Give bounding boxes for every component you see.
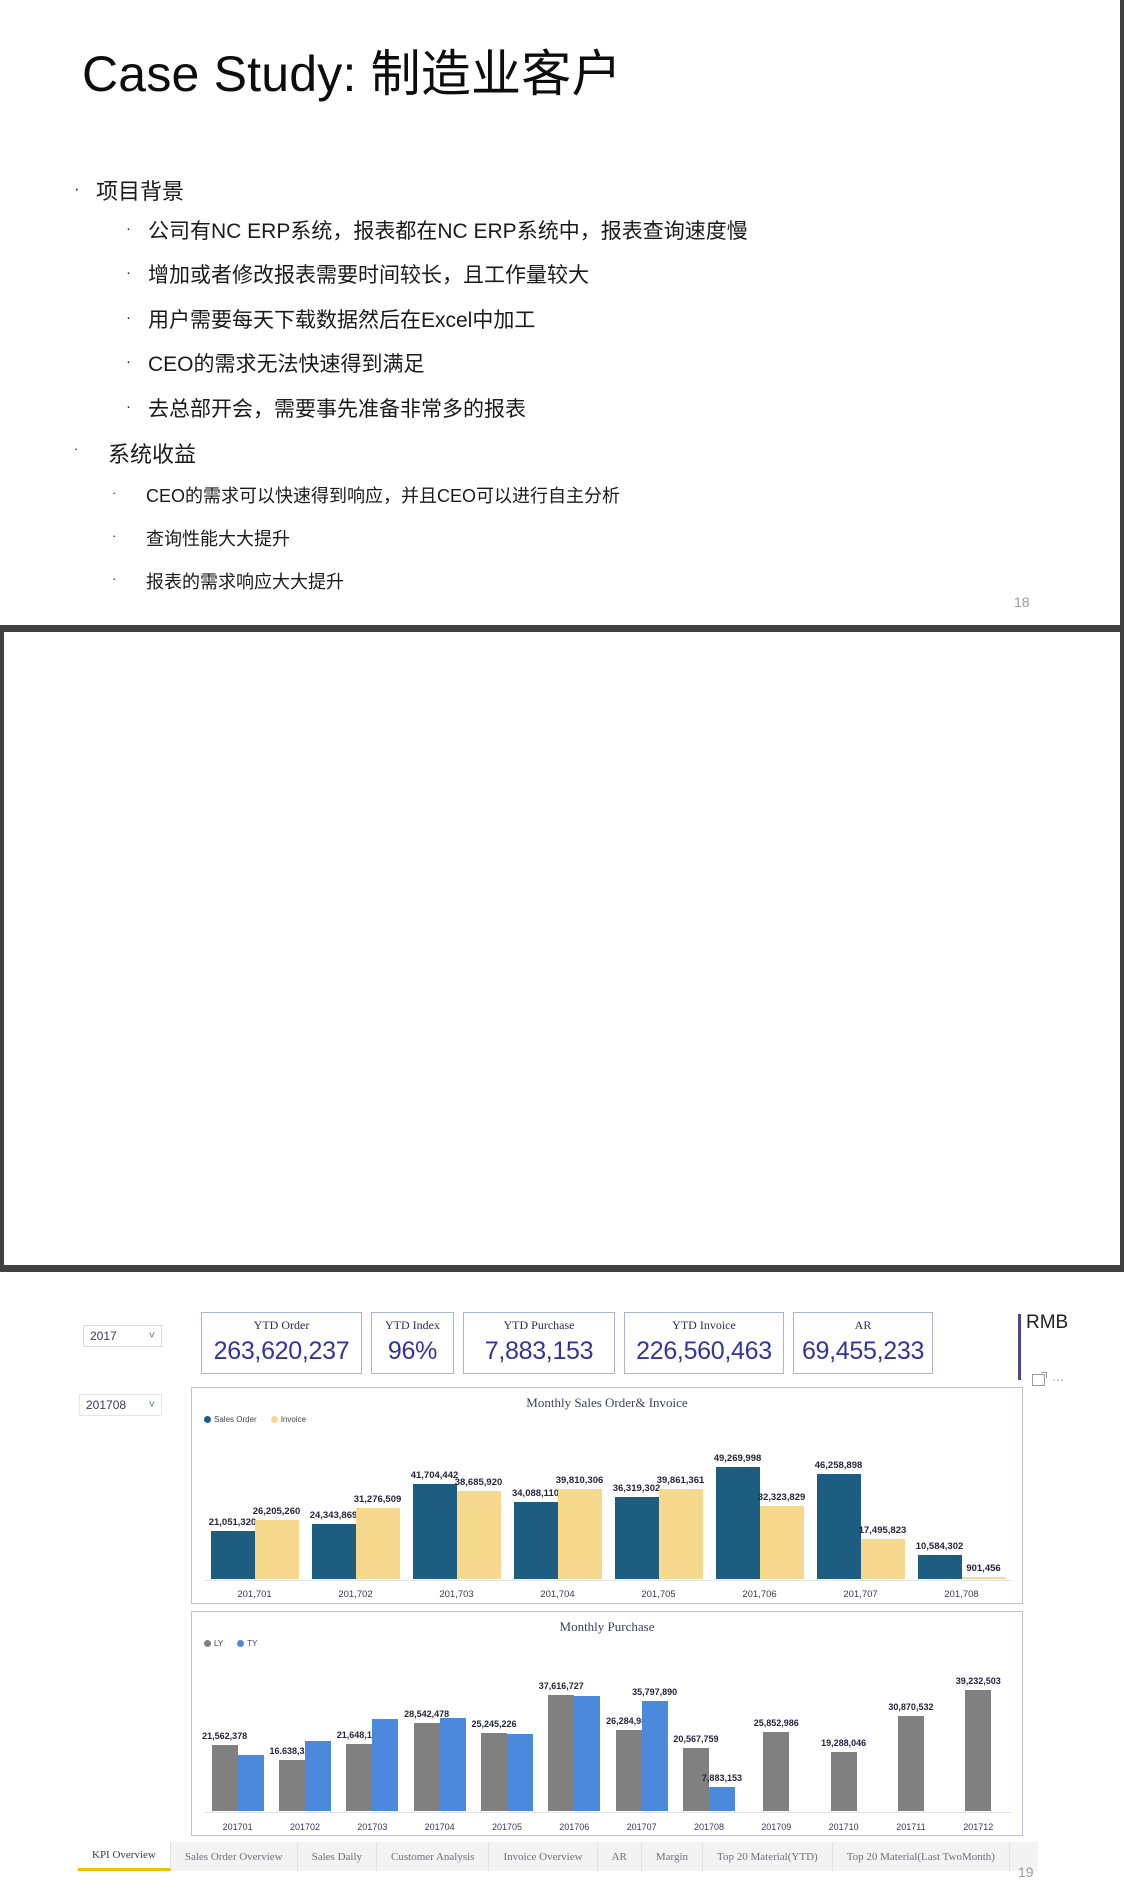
- chart-bar-value-label: 32,323,829: [758, 1492, 806, 1503]
- page-title: Case Study: 制造业客户: [82, 47, 622, 102]
- chart-bar[interactable]: 49,269,998: [716, 1467, 760, 1579]
- legend-swatch-icon: [204, 1640, 211, 1647]
- slide-divider: [0, 625, 1124, 632]
- chart-bar-value-label: 39,810,306: [556, 1475, 604, 1486]
- slide-case-study: Case Study: 制造业客户 · 项目背景 · 公司有NC ERP系统，报…: [0, 0, 1124, 628]
- kpi-card-row: YTD Order 263,620,237 YTD Index 96% YTD …: [201, 1312, 942, 1374]
- chart-x-tick-label: 201705: [473, 1822, 540, 1832]
- bullet-level2-text: 用户需要每天下载数据然后在Excel中加工: [148, 306, 535, 336]
- chart-bar[interactable]: 41,704,442: [413, 1484, 457, 1579]
- chart-bar[interactable]: 32,323,829: [760, 1506, 804, 1579]
- report-tab-ar[interactable]: AR: [598, 1842, 642, 1871]
- report-tab-sales-order-overview[interactable]: Sales Order Overview: [171, 1842, 298, 1871]
- chart-bar[interactable]: 37,616,727: [548, 1695, 574, 1811]
- kpi-value: 263,620,237: [214, 1337, 350, 1366]
- chart-category-group: 10,584,302901,456: [911, 1434, 1012, 1579]
- bullet-content: · 项目背景 · 公司有NC ERP系统，报表都在NC ERP系统中，报表查询速…: [74, 176, 1034, 612]
- chart-bar[interactable]: 38,685,920: [457, 1491, 501, 1579]
- legend-label: TY: [247, 1639, 257, 1648]
- chart-x-tick-label: 201,705: [608, 1589, 709, 1600]
- chart-bar[interactable]: 21,648,159: [346, 1744, 372, 1811]
- chart-plot-area: 21,562,37816.638,32221,648,15928,542,478…: [204, 1658, 1012, 1811]
- legend-label: Sales Order: [214, 1415, 257, 1424]
- chart-category-group: 28,542,478: [406, 1658, 473, 1811]
- chart-monthly-purchase[interactable]: Monthly Purchase LY TY 21,562,37816.638,…: [191, 1611, 1023, 1836]
- chart-category-group: 46,258,89817,495,823: [810, 1434, 911, 1579]
- chart-bar[interactable]: 10,584,302: [918, 1555, 962, 1579]
- chart-bar-value-label: 20,567,759: [673, 1734, 718, 1744]
- kpi-value: 7,883,153: [485, 1337, 594, 1366]
- chart-bar[interactable]: 39,861,361: [659, 1489, 703, 1579]
- kpi-card-ytd-invoice[interactable]: YTD Invoice 226,560,463: [624, 1312, 784, 1374]
- powerbi-dashboard: 2017 ˅ 201708 ˅ YTD Order 263,620,237 YT…: [78, 1304, 1038, 1869]
- currency-indicator: RMB ⋯: [1018, 1312, 1078, 1392]
- focus-mode-icon[interactable]: [1032, 1374, 1045, 1386]
- bullet-level2: · 公司有NC ERP系统，报表都在NC ERP系统中，报表查询速度慢: [74, 217, 1034, 247]
- bullet-marker-icon: ·: [126, 350, 148, 374]
- report-tab-kpi-overview[interactable]: KPI Overview: [78, 1842, 171, 1871]
- chart-bar-value-label: 10,584,302: [916, 1541, 964, 1552]
- report-tab-top-20-material-ytd[interactable]: Top 20 Material(YTD): [703, 1842, 833, 1871]
- chart-bar[interactable]: 7,883,153: [709, 1787, 735, 1811]
- chart-bar-value-label: 25,245,226: [471, 1719, 516, 1729]
- kpi-card-ytd-order[interactable]: YTD Order 263,620,237: [201, 1312, 362, 1374]
- chart-x-tick-label: 201,706: [709, 1589, 810, 1600]
- bullet-level2-text: CEO的需求可以快速得到响应，并且CEO可以进行自主分析: [146, 483, 620, 509]
- currency-label: RMB: [1026, 1312, 1068, 1334]
- slide-deck: Case Study: 制造业客户 · 项目背景 · 公司有NC ERP系统，报…: [0, 0, 1124, 1272]
- chart-bar[interactable]: 46,258,898: [817, 1474, 861, 1579]
- bullet-level2-text: CEO的需求无法快速得到满足: [148, 350, 425, 380]
- kpi-value: 96%: [388, 1337, 437, 1366]
- report-tab-sales-daily[interactable]: Sales Daily: [298, 1842, 377, 1871]
- bullet-marker-icon: ·: [74, 439, 108, 459]
- chart-x-axis: 201,701201,702201,703201,704201,705201,7…: [204, 1589, 1012, 1600]
- legend-item-ty[interactable]: TY: [237, 1639, 257, 1648]
- chart-bar-value-label: 31,276,509: [354, 1494, 402, 1505]
- bullet-level2-text: 查询性能大大提升: [146, 526, 290, 552]
- bullet-level2-text: 增加或者修改报表需要时间较长，且工作量较大: [148, 261, 589, 291]
- chart-bar-value-label: 39,861,361: [657, 1475, 705, 1486]
- chart-x-tick-label: 201,703: [406, 1589, 507, 1600]
- chart-bar[interactable]: 39,232,503: [965, 1690, 991, 1811]
- kpi-label: YTD Index: [385, 1318, 440, 1333]
- legend-item-sales-order[interactable]: Sales Order: [204, 1415, 257, 1424]
- chart-legend: LY TY: [204, 1639, 257, 1648]
- bullet-level2: · 去总部开会，需要事先准备非常多的报表: [74, 395, 1034, 425]
- chart-category-group: 25,245,226: [473, 1658, 540, 1811]
- month-slicer[interactable]: 201708 ˅: [79, 1394, 162, 1416]
- chart-category-group: 19,288,046: [810, 1658, 877, 1811]
- chart-category-group: 25,852,986: [743, 1658, 810, 1811]
- chart-bar-value-label: 25,852,986: [754, 1718, 799, 1728]
- chart-bar[interactable]: [440, 1718, 466, 1811]
- chart-bar-value-label: 49,269,998: [714, 1453, 762, 1464]
- chart-bar[interactable]: 28,542,478: [414, 1723, 440, 1811]
- chart-bar-value-label: 19,288,046: [821, 1738, 866, 1748]
- bullet-marker-icon: ·: [112, 569, 146, 589]
- kpi-label: YTD Order: [254, 1318, 310, 1333]
- chevron-down-icon: ˅: [149, 1331, 155, 1342]
- bullet-marker-icon: ·: [126, 306, 148, 330]
- chart-x-tick-label: 201,701: [204, 1589, 305, 1600]
- page-number: 19: [1018, 1864, 1034, 1880]
- chart-title: Monthly Purchase: [192, 1619, 1022, 1635]
- chart-category-group: 20,567,7597,883,153: [675, 1658, 742, 1811]
- chart-bar[interactable]: 26,284,988: [616, 1730, 642, 1811]
- bullet-level1: · 项目背景: [74, 176, 1034, 208]
- kpi-card-ytd-index[interactable]: YTD Index 96%: [371, 1312, 454, 1374]
- chart-bar[interactable]: 17,495,823: [861, 1539, 905, 1579]
- bullet-marker-icon: ·: [112, 483, 146, 503]
- chart-bar[interactable]: 26,205,260: [255, 1520, 299, 1579]
- chart-category-group: 30,870,532: [877, 1658, 944, 1811]
- chart-bar[interactable]: [507, 1734, 533, 1811]
- chart-bar-value-label: 37,616,727: [539, 1681, 584, 1691]
- chart-x-tick-label: 201,707: [810, 1589, 911, 1600]
- chart-category-group: 41,704,44238,685,920: [406, 1434, 507, 1579]
- chart-bar-value-label: 38,685,920: [455, 1477, 503, 1488]
- chart-x-tick-label: 201712: [945, 1822, 1012, 1832]
- chart-legend: Sales Order Invoice: [204, 1415, 306, 1424]
- bullet-group-benefits: · 系统收益 · CEO的需求可以快速得到响应，并且CEO可以进行自主分析 · …: [74, 439, 1034, 595]
- chart-category-group: 21,562,378: [204, 1658, 271, 1811]
- chart-bar-value-label: 21,562,378: [202, 1731, 247, 1741]
- chart-bar-value-label: 26,205,260: [253, 1506, 301, 1517]
- legend-item-invoice[interactable]: Invoice: [271, 1415, 306, 1424]
- chart-bar[interactable]: 39,810,306: [558, 1489, 602, 1579]
- legend-label: LY: [214, 1639, 223, 1648]
- chart-x-tick-label: 201703: [339, 1822, 406, 1832]
- chart-x-tick-label: 201708: [675, 1822, 742, 1832]
- chart-x-tick-label: 201710: [810, 1822, 877, 1832]
- chart-x-tick-label: 201706: [541, 1822, 608, 1832]
- chart-title: Monthly Sales Order& Invoice: [192, 1395, 1022, 1411]
- chart-x-tick-label: 201,704: [507, 1589, 608, 1600]
- bullet-marker-icon: ·: [74, 176, 96, 202]
- bullet-level2-text: 公司有NC ERP系统，报表都在NC ERP系统中，报表查询速度慢: [148, 217, 748, 247]
- report-tab-bar: KPI OverviewSales Order OverviewSales Da…: [78, 1842, 1038, 1871]
- bullet-marker-icon: ·: [126, 395, 148, 419]
- chart-bar-value-label: 901,456: [966, 1563, 1000, 1574]
- chart-category-group: 34,088,11039,810,306: [507, 1434, 608, 1579]
- chart-bar-value-label: 17,495,823: [859, 1525, 907, 1536]
- chart-baseline: [204, 1812, 1012, 1813]
- chart-bar[interactable]: 24,343,869: [312, 1524, 356, 1579]
- chart-bar[interactable]: 21,051,320: [211, 1531, 255, 1579]
- chart-bar[interactable]: 34,088,110: [514, 1502, 558, 1579]
- kpi-value: 226,560,463: [636, 1337, 772, 1366]
- chart-bar-value-label: 21,051,320: [209, 1517, 257, 1528]
- year-slicer[interactable]: 2017 ˅: [83, 1325, 162, 1347]
- chart-monthly-sales-order-invoice[interactable]: Monthly Sales Order& Invoice Sales Order…: [191, 1387, 1023, 1604]
- chart-bar[interactable]: 901,456: [962, 1577, 1006, 1579]
- bullet-group-background: · 项目背景 · 公司有NC ERP系统，报表都在NC ERP系统中，报表查询速…: [74, 176, 1034, 425]
- chart-bar[interactable]: [574, 1696, 600, 1811]
- year-slicer-value: 2017: [90, 1329, 117, 1343]
- chart-category-group: 24,343,86931,276,509: [305, 1434, 406, 1579]
- chart-bar[interactable]: 21,562,378: [212, 1745, 238, 1811]
- accent-bar: [1018, 1314, 1021, 1380]
- chart-baseline: [204, 1580, 1012, 1581]
- chart-category-group: 39,232,503: [945, 1658, 1012, 1811]
- bottom-divider: [0, 1265, 1124, 1272]
- chart-category-group: 21,648,159: [339, 1658, 406, 1811]
- legend-swatch-icon: [237, 1640, 244, 1647]
- kpi-card-ar[interactable]: AR 69,455,233: [793, 1312, 933, 1374]
- chart-bar-value-label: 34,088,110: [512, 1488, 559, 1499]
- legend-swatch-icon: [271, 1416, 278, 1423]
- bullet-level2: · 报表的需求响应大大提升: [74, 569, 1034, 595]
- chart-category-group: 49,269,99832,323,829: [709, 1434, 810, 1579]
- report-tab-top-20-material-last-twomonth[interactable]: Top 20 Material(Last TwoMonth): [833, 1842, 1010, 1871]
- bullet-level1-text: 项目背景: [96, 176, 184, 208]
- bullet-marker-icon: ·: [126, 261, 148, 285]
- visual-header-icons: ⋯: [1032, 1374, 1065, 1386]
- chart-x-tick-label: 201711: [877, 1822, 944, 1832]
- chart-x-tick-label: 201701: [204, 1822, 271, 1832]
- chart-category-group: 16.638,322: [271, 1658, 338, 1811]
- chart-bar[interactable]: 30,870,532: [898, 1716, 924, 1811]
- chart-bar[interactable]: 25,245,226: [481, 1733, 507, 1811]
- chart-bar[interactable]: [372, 1719, 398, 1811]
- kpi-label: YTD Purchase: [504, 1318, 575, 1333]
- more-options-icon[interactable]: ⋯: [1052, 1377, 1065, 1383]
- bullet-level2: · 查询性能大大提升: [74, 526, 1034, 552]
- chart-x-tick-label: 201,702: [305, 1589, 406, 1600]
- chart-bar[interactable]: [305, 1741, 331, 1811]
- page-number: 18: [1014, 594, 1030, 610]
- chart-category-group: 36,319,30239,861,361: [608, 1434, 709, 1579]
- chart-bar[interactable]: 25,852,986: [763, 1732, 789, 1811]
- chart-x-tick-label: 201702: [271, 1822, 338, 1832]
- chart-bar[interactable]: 36,319,302: [615, 1497, 659, 1579]
- chart-bar-value-label: 30,870,532: [888, 1702, 933, 1712]
- chart-bar[interactable]: 35,797,890: [642, 1701, 668, 1811]
- chart-bar[interactable]: 16.638,322: [279, 1760, 305, 1811]
- chart-category-group: 37,616,727: [541, 1658, 608, 1811]
- chart-bar-value-label: 24,343,869: [310, 1510, 358, 1521]
- chart-plot-area: 21,051,32026,205,26024,343,86931,276,509…: [204, 1434, 1012, 1579]
- bullet-level2-text: 报表的需求响应大大提升: [146, 569, 344, 595]
- chart-x-axis: 2017012017022017032017042017052017062017…: [204, 1822, 1012, 1832]
- month-slicer-value: 201708: [86, 1398, 126, 1412]
- report-tab-margin[interactable]: Margin: [642, 1842, 703, 1871]
- kpi-value: 69,455,233: [802, 1337, 924, 1366]
- bullet-level2: · 用户需要每天下载数据然后在Excel中加工: [74, 306, 1034, 336]
- chart-x-tick-label: 201707: [608, 1822, 675, 1832]
- chart-x-tick-label: 201,708: [911, 1589, 1012, 1600]
- chart-category-group: 21,051,32026,205,260: [204, 1434, 305, 1579]
- chart-bar-value-label: 36,319,302: [613, 1483, 661, 1494]
- bullet-level2: · CEO的需求无法快速得到满足: [74, 350, 1034, 380]
- kpi-card-ytd-purchase[interactable]: YTD Purchase 7,883,153: [463, 1312, 615, 1374]
- chart-bar-value-label: 35,797,890: [632, 1687, 677, 1697]
- report-tab-invoice-overview[interactable]: Invoice Overview: [489, 1842, 597, 1871]
- legend-label: Invoice: [281, 1415, 306, 1424]
- bullet-marker-icon: ·: [126, 217, 148, 241]
- chart-category-group: 26,284,98835,797,890: [608, 1658, 675, 1811]
- chart-bar[interactable]: 19,288,046: [831, 1752, 857, 1811]
- bullet-level2: · CEO的需求可以快速得到响应，并且CEO可以进行自主分析: [74, 483, 1034, 509]
- chart-bar-value-label: 41,704,442: [411, 1470, 459, 1481]
- slide-dashboard: 2017 ˅ 201708 ˅ YTD Order 263,620,237 YT…: [0, 632, 1124, 1272]
- chart-x-tick-label: 201704: [406, 1822, 473, 1832]
- chart-bar[interactable]: [238, 1755, 264, 1811]
- chart-bar-value-label: 7,883,153: [702, 1773, 742, 1783]
- bullet-level2: · 增加或者修改报表需要时间较长，且工作量较大: [74, 261, 1034, 291]
- bullet-marker-icon: ·: [112, 526, 146, 546]
- chart-bar-value-label: 39,232,503: [956, 1676, 1001, 1686]
- report-tab-customer-analysis[interactable]: Customer Analysis: [377, 1842, 489, 1871]
- chevron-down-icon: ˅: [149, 1400, 155, 1411]
- chart-bar[interactable]: 31,276,509: [356, 1508, 400, 1579]
- bullet-level1-text: 系统收益: [108, 439, 196, 471]
- legend-swatch-icon: [204, 1416, 211, 1423]
- bullet-level1: · 系统收益: [74, 439, 1034, 471]
- bullet-level2-text: 去总部开会，需要事先准备非常多的报表: [148, 395, 526, 425]
- chart-bar-value-label: 46,258,898: [815, 1460, 863, 1471]
- chart-x-tick-label: 201709: [743, 1822, 810, 1832]
- kpi-label: YTD Invoice: [672, 1318, 736, 1333]
- kpi-label: AR: [855, 1318, 872, 1333]
- legend-item-ly[interactable]: LY: [204, 1639, 223, 1648]
